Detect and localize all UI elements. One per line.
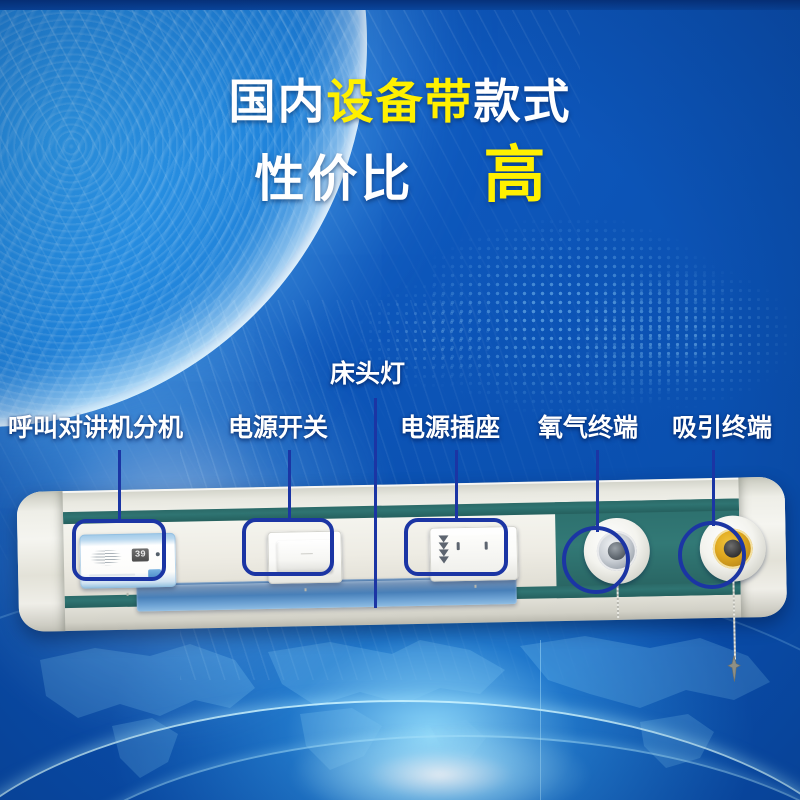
highlight-box-intercom: [72, 519, 166, 581]
callout-label-bed-lamp: 床头灯: [330, 362, 405, 387]
highlight-box-socket: [404, 518, 508, 576]
callout-label-power-socket: 电源插座: [400, 416, 500, 441]
poster-canvas: 国内设备带款式 性价比高 39: [0, 0, 800, 800]
leader-line-suction: [712, 450, 715, 526]
callout-label-oxygen: 氧气终端: [538, 416, 638, 441]
leader-line-power-socket: [455, 450, 458, 520]
highlight-circle-oxygen: [562, 526, 630, 594]
callout-label-power-switch: 电源开关: [228, 416, 328, 441]
leader-line-oxygen: [596, 450, 599, 532]
leader-line-bed-lamp: [374, 398, 377, 608]
leader-line-power-switch: [288, 450, 291, 520]
highlight-circle-suction: [678, 521, 746, 589]
highlight-box-switch: [242, 518, 334, 576]
callout-label-intercom: 呼叫对讲机分机: [8, 416, 183, 441]
leader-line-intercom: [118, 450, 121, 522]
callout-label-suction: 吸引终端: [672, 416, 772, 441]
callout-layer: 呼叫对讲机分机 电源开关 床头灯 电源插座 氧气终端 吸引终端: [0, 0, 800, 800]
